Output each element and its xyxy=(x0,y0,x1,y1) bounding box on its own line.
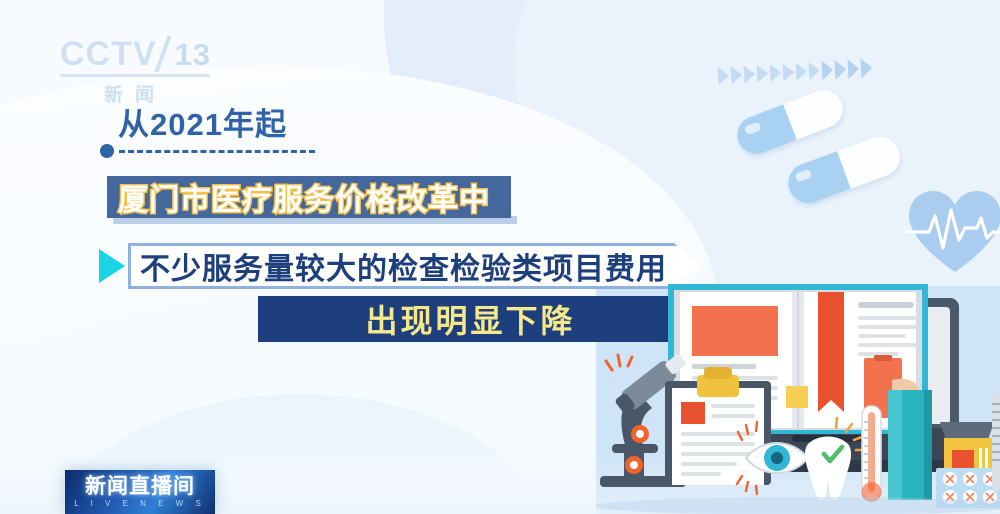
headline-line-1-rule xyxy=(100,144,315,158)
channel-logo-subtitle: 新闻 xyxy=(60,80,210,107)
capsule-pill-icon xyxy=(783,131,906,208)
capsule-pill-icon xyxy=(732,85,848,160)
channel-logo-rule xyxy=(60,74,210,77)
headline-line-1: 从2021年起 xyxy=(100,108,315,158)
dashed-line-icon xyxy=(119,150,315,153)
channel-logo-text: CCTV xyxy=(60,37,157,71)
medical-desk-illustration xyxy=(596,262,1000,514)
channel-logo: CCTV 13 新闻 xyxy=(60,36,220,104)
headline-line-2: 厦门市医疗服务价格改革中 xyxy=(107,176,511,218)
headline-line-2-text: 厦门市医疗服务价格改革中 xyxy=(118,175,490,219)
headline-line-1-text: 从2021年起 xyxy=(100,108,315,141)
program-bug-title: 新闻直播间 xyxy=(85,476,195,497)
channel-logo-number: 13 xyxy=(175,39,211,70)
broadcast-frame: CCTV 13 新闻 从2021年起 厦门市医疗服务价格改革中 不少服务量较大的… xyxy=(0,0,1000,514)
play-triangle-icon xyxy=(99,249,125,283)
headline-line-4-text: 出现明显下降 xyxy=(365,296,575,342)
channel-logo-mark: CCTV 13 xyxy=(60,36,220,72)
chevrons-right-icon xyxy=(717,45,984,93)
program-bug-subtitle: L I V E N E W S xyxy=(74,500,206,508)
program-bug: 新闻直播间 L I V E N E W S xyxy=(65,470,215,514)
bullet-dot-icon xyxy=(100,144,114,158)
